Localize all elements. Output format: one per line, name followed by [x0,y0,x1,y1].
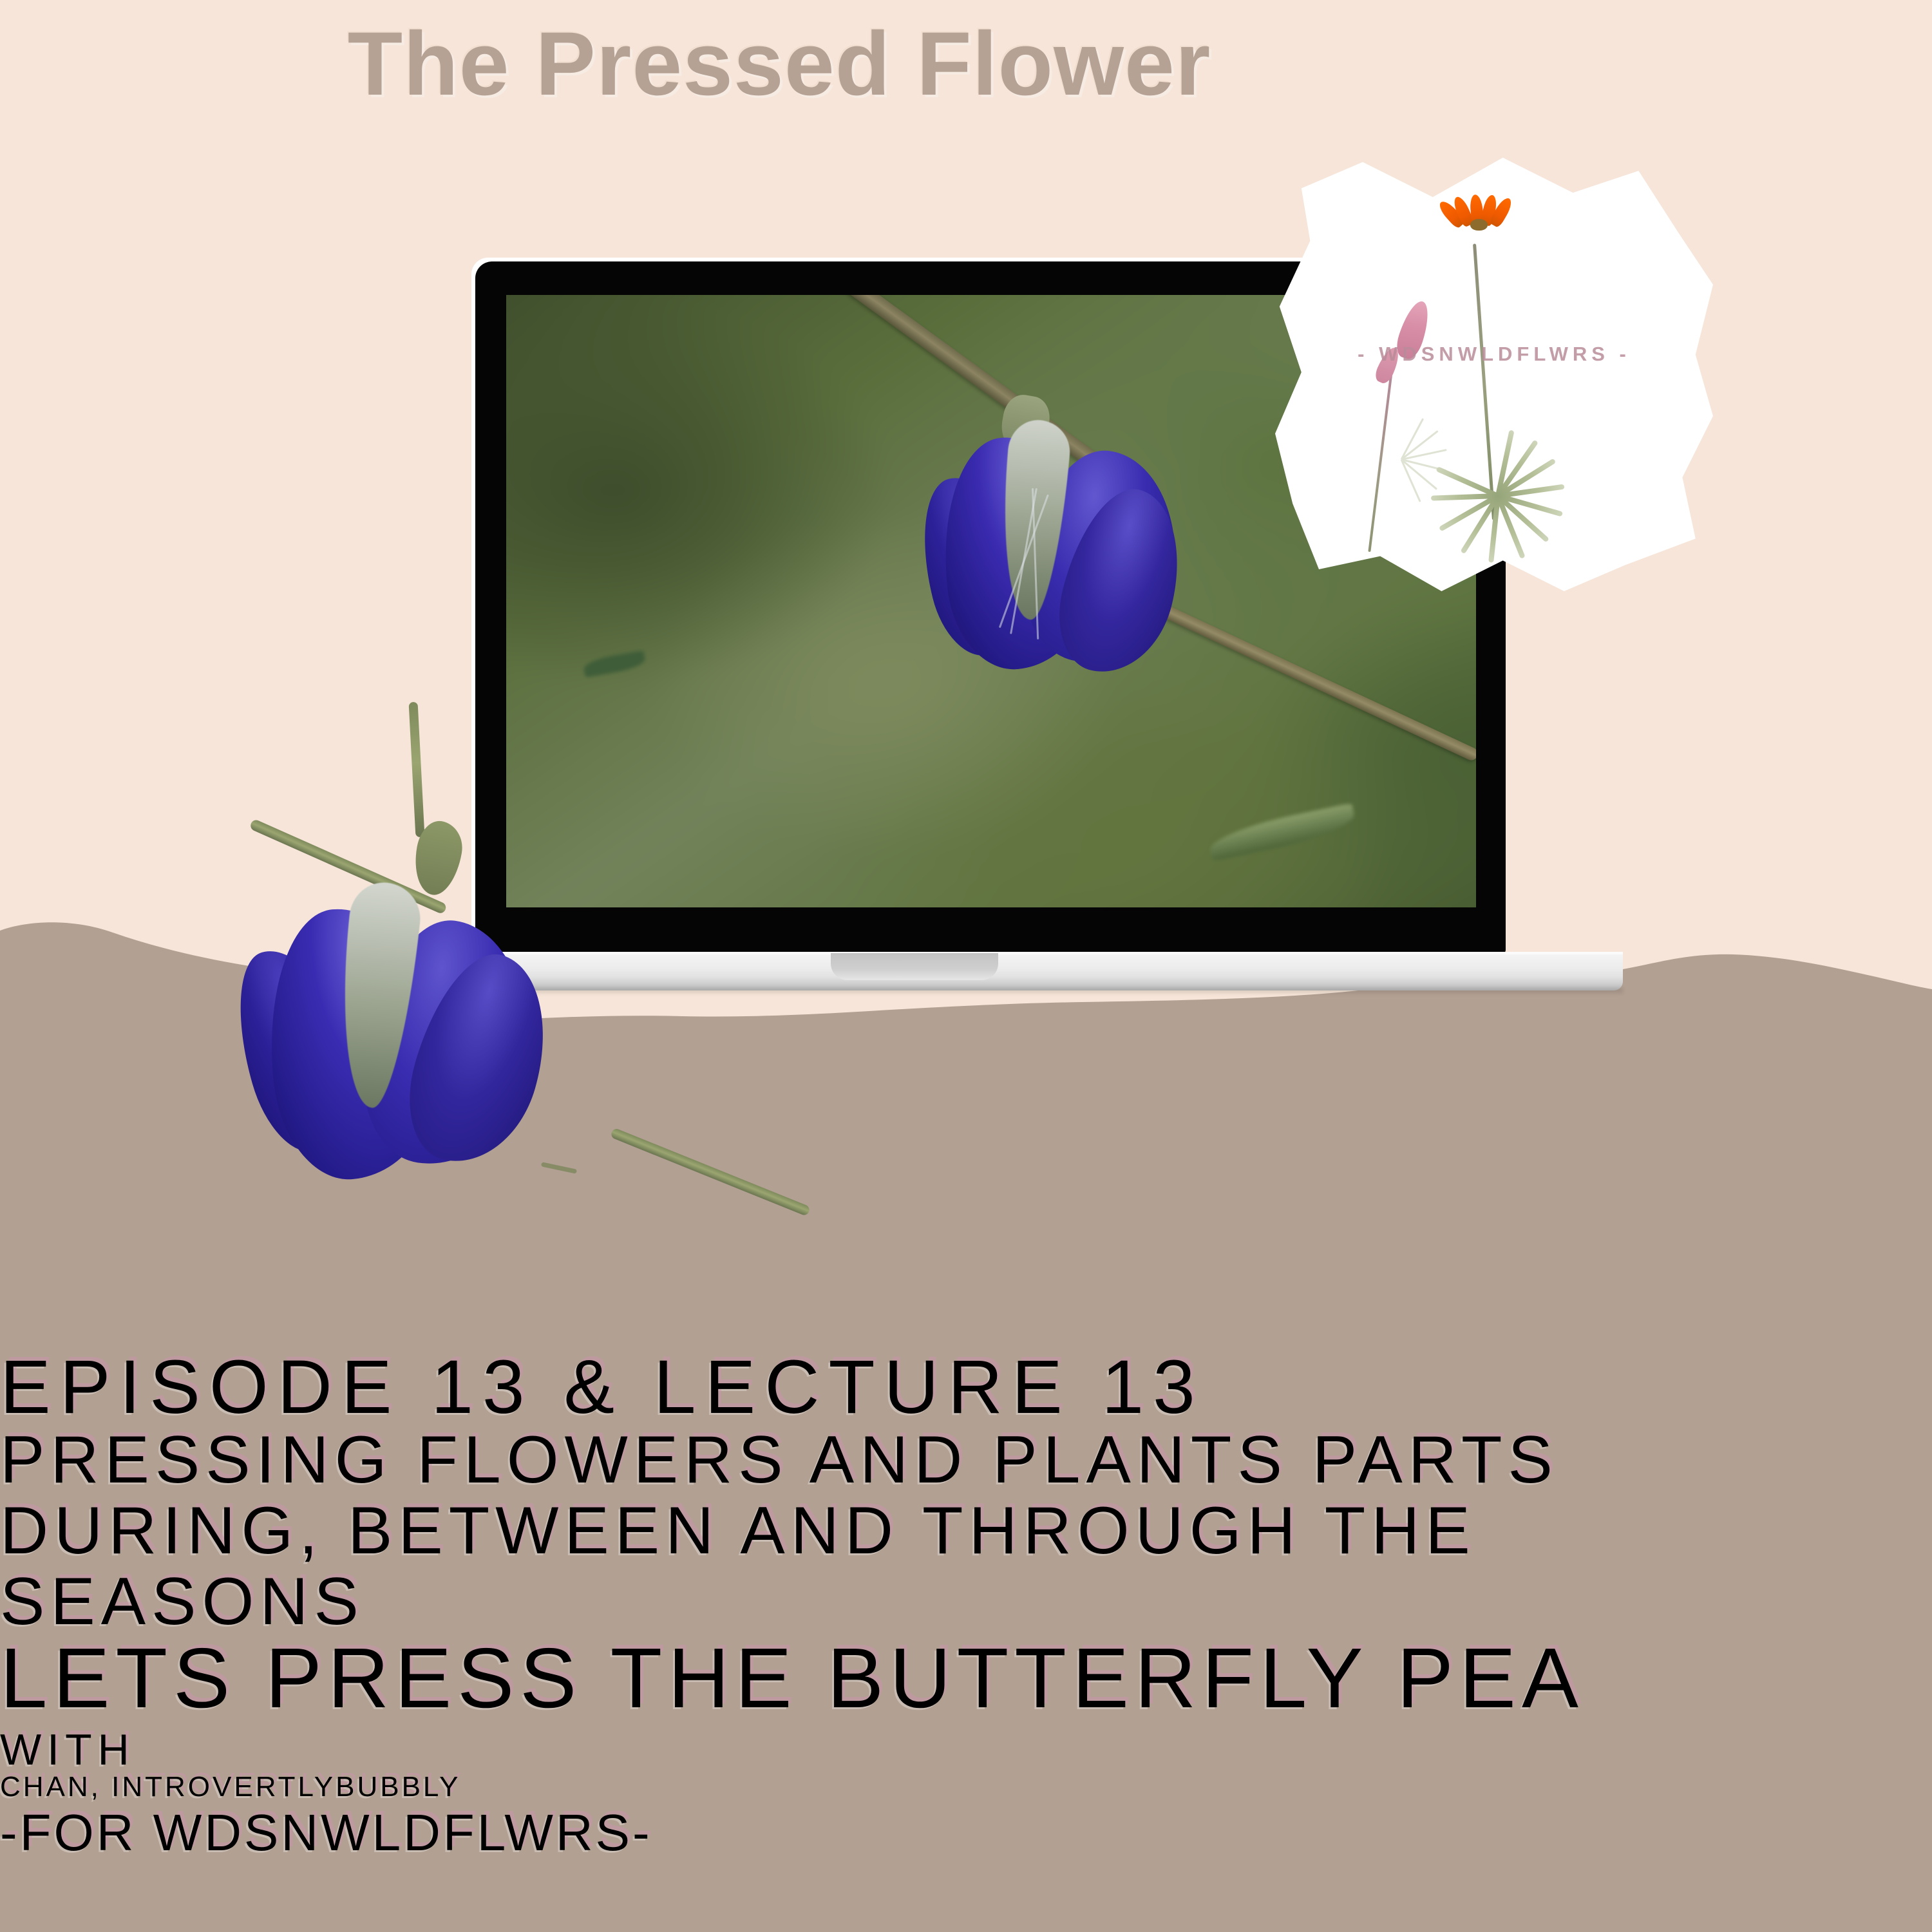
caption-for-credit: -FOR WDSNWLDFLWRS- [0,1803,1932,1862]
brand-badge: - WDSNWLDFLWRS - [1275,153,1713,591]
flower-debris-speck [541,1162,577,1173]
foreground-pressed-flower [225,721,805,1236]
leaf-spray-icon [1428,444,1577,560]
flower-stem-upper [409,702,425,837]
laptop-base-notch [831,953,998,980]
caption-episode: EPISODE 13 & LECTURE 13 [0,1343,1932,1431]
poster-canvas: The Pressed Flower [0,0,1932,1932]
badge-label: - WDSNWLDFLWRS - [1275,343,1713,366]
page-title: The Pressed Flower [0,12,1558,115]
caption-subtitle-line-2: DURING, BETWEEN AND THROUGH THE [0,1493,1932,1569]
leaf-blade [1435,466,1499,498]
caption-main-title: LETS PRESS THE BUTTERFLY PEA [0,1629,1932,1727]
flower-stem-right [610,1128,811,1217]
caption-with-label: WITH [0,1725,1932,1775]
cosmos-flower-icon [1454,191,1503,232]
caption-subtitle-line-1: PRESSING FLOWERS AND PLANTS PARTS [0,1422,1932,1499]
screen-butterfly-pea-flower [918,392,1195,701]
caption-host-name: CHAN, INTROVERTLYBUBBLY [0,1771,1932,1803]
cosmos-center [1470,219,1488,231]
